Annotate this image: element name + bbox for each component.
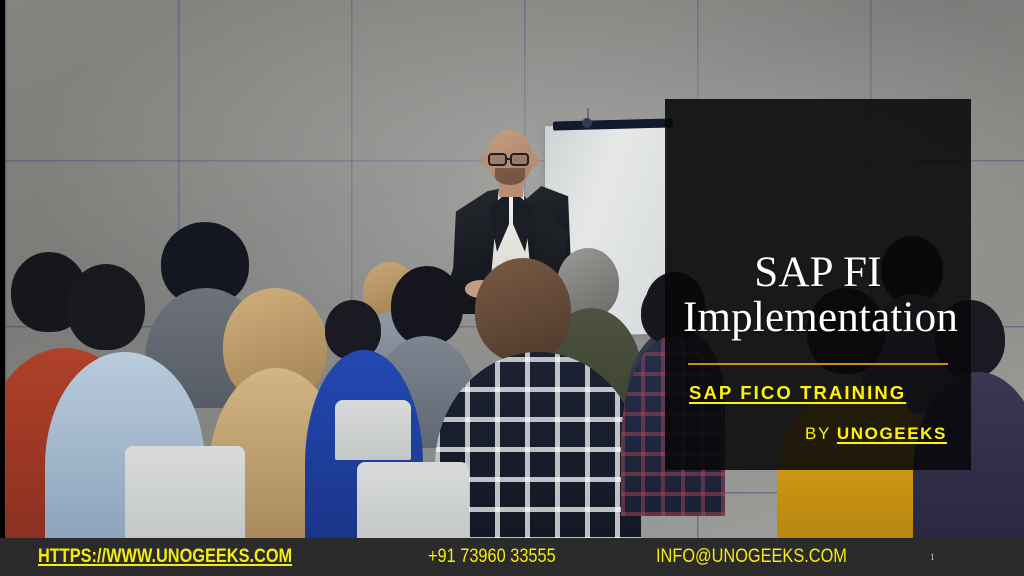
presentation-slide: SAP FI Implementation SAP FICO TRAINING … [0,0,1024,576]
footer-website-link[interactable]: HTTPS://WWW.UNOGEEKS.COM [38,546,292,568]
presenter-mouth [502,173,518,178]
glasses-lens-left-icon [488,153,507,166]
chair-center [357,462,469,542]
byline-prefix: BY [805,424,831,443]
footer-bar: HTTPS://WWW.UNOGEEKS.COM +91 73960 33555… [0,538,1024,576]
glasses-bridge-icon [506,158,512,160]
title-divider [688,363,948,365]
left-edge-border [0,0,5,538]
presenter-ear-right [530,154,539,168]
course-subtitle: SAP FICO TRAINING [689,382,953,404]
chair-right [335,400,411,460]
footer-phone: +91 73960 33555 [428,546,556,568]
page-title: SAP FI Implementation [683,250,953,341]
footer-email[interactable]: INFO@UNOGEEKS.COM [656,546,847,568]
chair-left [125,446,245,542]
title-line-1: SAP FI [683,250,953,296]
flipchart-knob-icon [582,118,592,128]
title-panel: SAP FI Implementation SAP FICO TRAINING … [665,99,971,470]
title-line-2: Implementation [683,295,953,341]
byline: BY UNOGEEKS [683,424,947,444]
byline-brand: UNOGEEKS [837,424,947,443]
glasses-lens-right-icon [510,153,529,166]
slide-page-number: 1 [930,552,935,562]
